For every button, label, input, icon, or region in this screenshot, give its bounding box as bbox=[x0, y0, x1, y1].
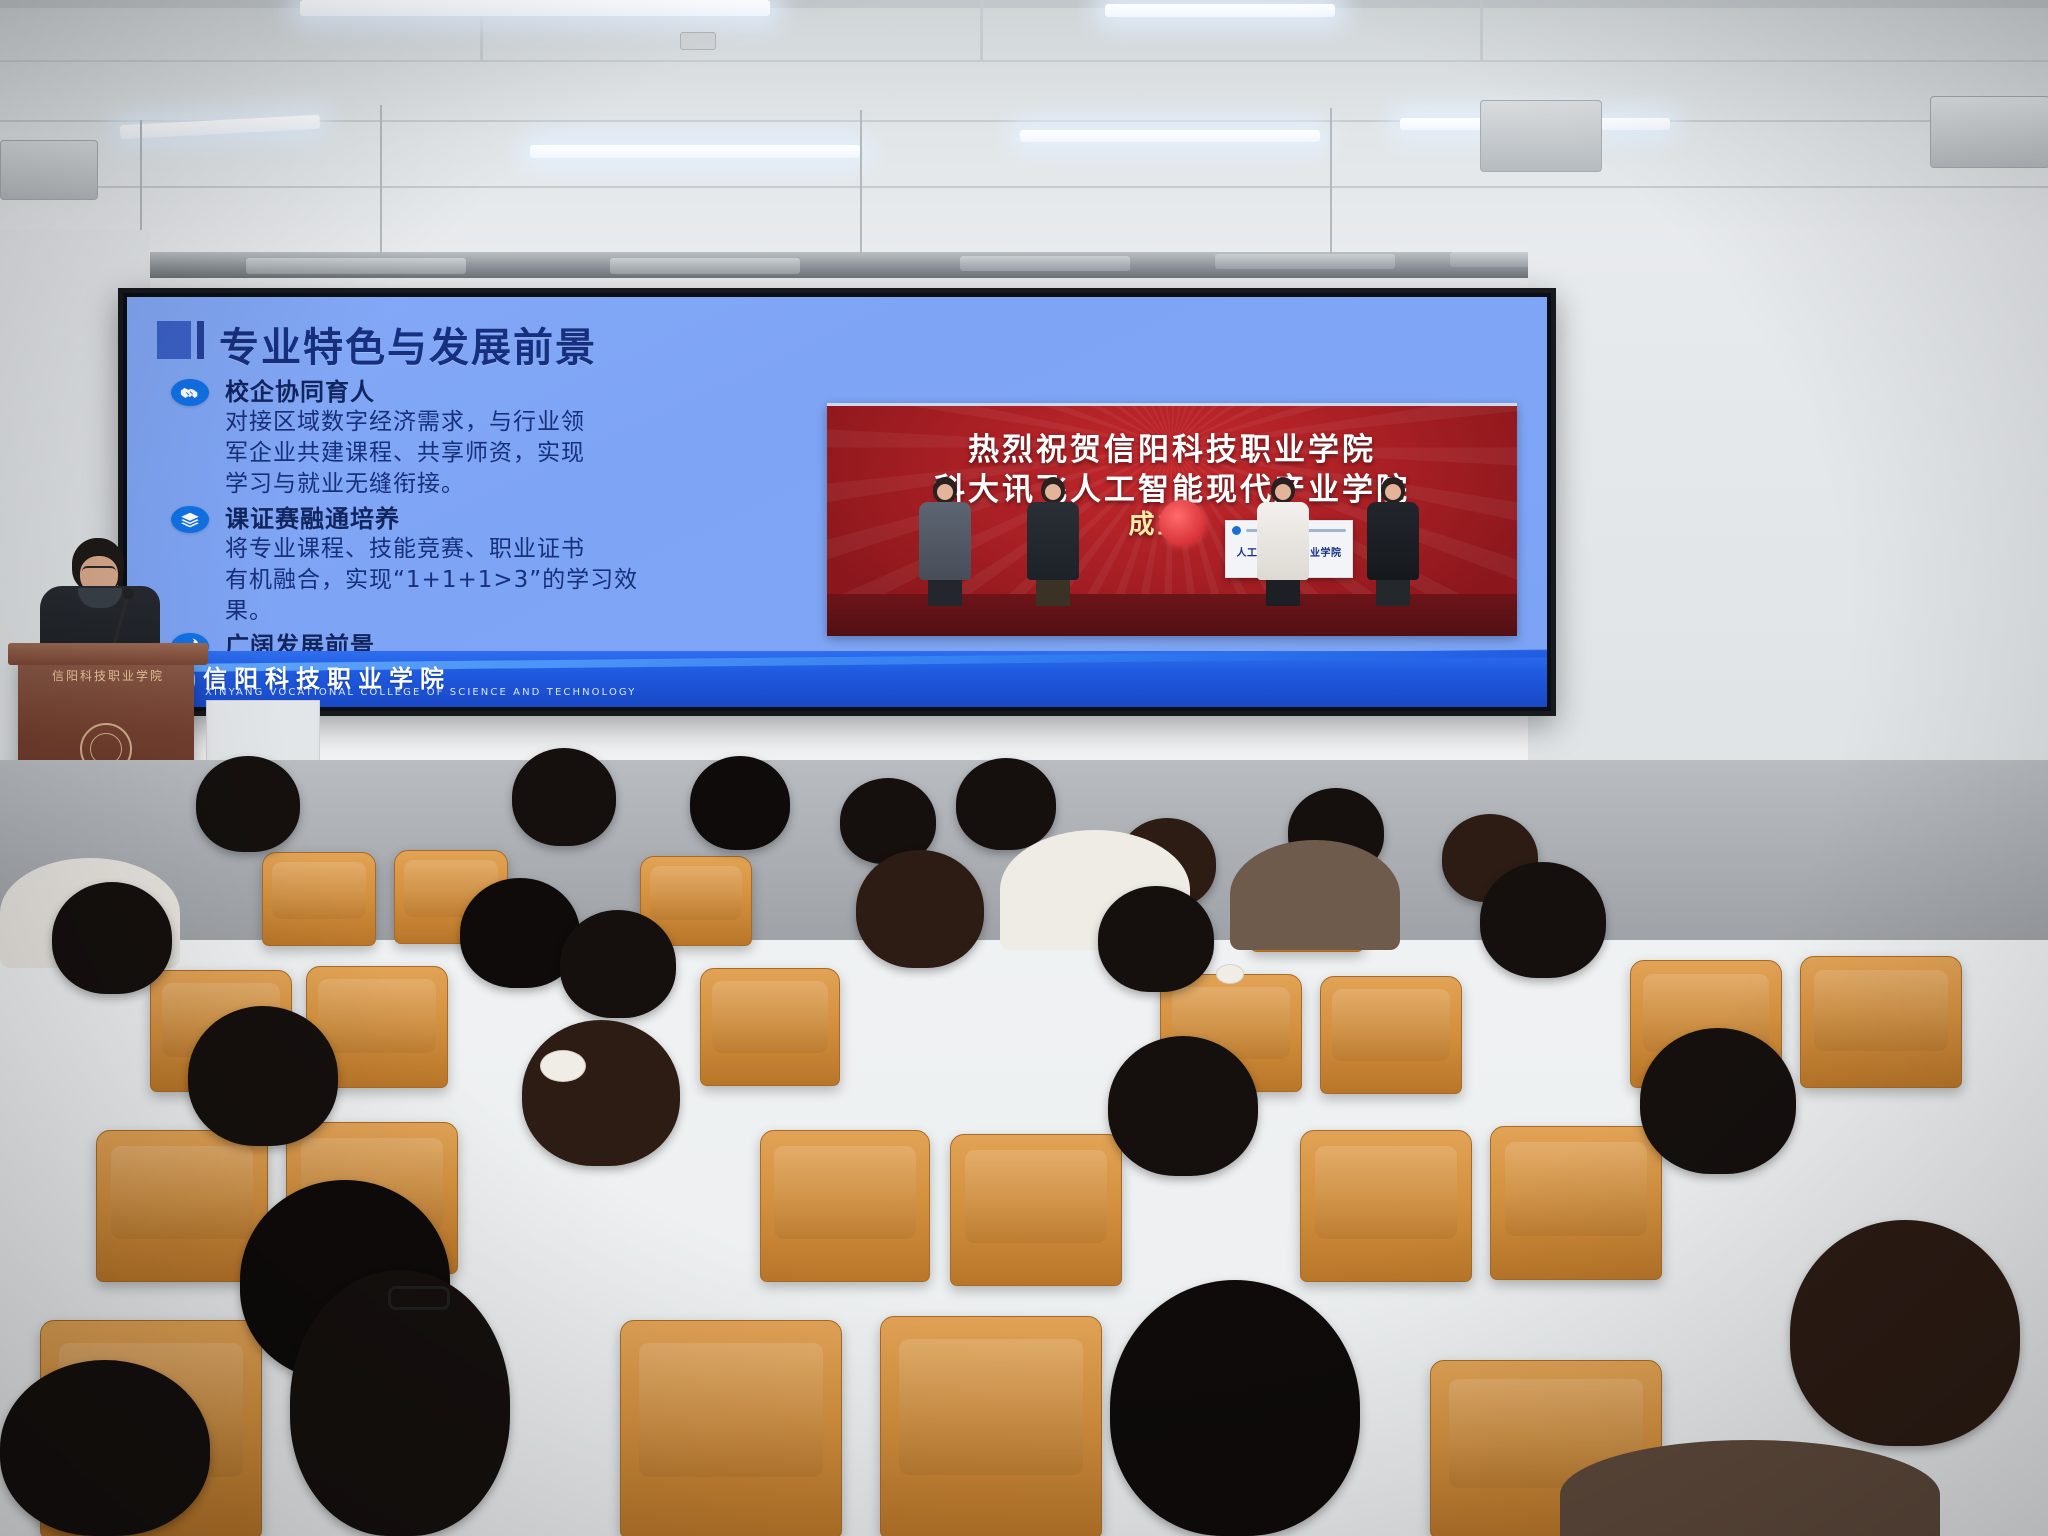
bullet-line: 对接区域数字经济需求，与行业领 bbox=[225, 407, 807, 438]
audience-head bbox=[0, 1360, 210, 1536]
podium-top bbox=[8, 643, 208, 665]
wall-control-panel bbox=[206, 700, 320, 766]
hanging-wire bbox=[1330, 108, 1332, 254]
plaque-logo-dot bbox=[1232, 526, 1241, 535]
audience-head bbox=[1098, 886, 1214, 992]
ceremony-person bbox=[1367, 477, 1419, 606]
hair-clip bbox=[1216, 964, 1244, 984]
ceremony-person bbox=[1257, 477, 1309, 606]
chair bbox=[950, 1134, 1122, 1286]
ceiling-lamp bbox=[1105, 4, 1335, 17]
speaker-glasses bbox=[82, 566, 116, 577]
chair bbox=[880, 1316, 1102, 1536]
chair bbox=[1300, 1130, 1472, 1282]
ceiling-lamp bbox=[1020, 130, 1320, 142]
ceremony-photo: 热烈祝贺信阳科技职业学院 科大讯飞人工智能现代产业学院 成立！ bbox=[827, 403, 1517, 636]
audience-head bbox=[512, 748, 616, 846]
track-light-bar bbox=[960, 256, 1130, 271]
bullet-line: 有机融合，实现“1+1+1>3”的学习效 bbox=[225, 565, 807, 596]
plaque-logo-line bbox=[1306, 529, 1347, 532]
audience-head bbox=[188, 1006, 338, 1146]
title-accent-square bbox=[157, 321, 191, 359]
ceremony-person bbox=[919, 477, 971, 606]
track-light-bar bbox=[246, 258, 466, 274]
audience-head bbox=[1790, 1220, 2020, 1446]
bullet-item-1: 校企协同育人 对接区域数字经济需求，与行业领 军企业共建课程、共享师资，实现 学… bbox=[167, 377, 807, 500]
track-light-bar bbox=[610, 258, 800, 274]
audience-shoulders bbox=[1230, 840, 1400, 950]
ceremony-person bbox=[1027, 477, 1079, 606]
audience-head bbox=[1110, 1280, 1360, 1536]
air-conditioner-vent bbox=[0, 140, 98, 200]
banner-line-1: 热烈祝贺信阳科技职业学院 bbox=[827, 424, 1517, 469]
audience-head bbox=[856, 850, 984, 968]
presentation-slide: 专业特色与发展前景 校企协同育人 对接区域数字经济需求，与行业领 军企业共建课程… bbox=[127, 297, 1547, 707]
footer-college-en: XINYANG VOCATIONAL COLLEGE OF SCIENCE AN… bbox=[205, 687, 637, 698]
audience-head bbox=[1480, 862, 1606, 978]
ceiling-lamp bbox=[300, 0, 770, 16]
hair-clip bbox=[540, 1050, 586, 1082]
slide-title: 专业特色与发展前景 bbox=[219, 315, 597, 373]
handshake-icon bbox=[171, 379, 209, 406]
audience-head bbox=[1108, 1036, 1258, 1176]
chair bbox=[620, 1320, 842, 1536]
bullet-line: 果。 bbox=[225, 596, 807, 627]
audience-head bbox=[560, 910, 676, 1018]
wall-speaker bbox=[680, 32, 716, 50]
audience-head bbox=[690, 756, 790, 850]
projector-screen: 专业特色与发展前景 校企协同育人 对接区域数字经济需求，与行业领 军企业共建课程… bbox=[118, 288, 1556, 716]
audience-head bbox=[52, 882, 172, 994]
bullet-heading: 校企协同育人 bbox=[225, 377, 807, 407]
track-light-bar bbox=[1215, 254, 1395, 269]
chair bbox=[1320, 976, 1462, 1094]
audience-seating bbox=[0, 800, 2048, 1536]
audience-head bbox=[522, 1020, 680, 1166]
audience-head bbox=[196, 756, 300, 852]
projector bbox=[1930, 96, 2048, 168]
layers-icon bbox=[171, 506, 209, 533]
chair bbox=[700, 968, 840, 1086]
bullet-heading: 课证赛融通培养 bbox=[225, 504, 807, 534]
red-ribbon-flower bbox=[1159, 500, 1205, 546]
bullet-item-2: 课证赛融通培养 将专业课程、技能竞赛、职业证书 有机融合，实现“1+1+1>3”… bbox=[167, 504, 807, 627]
audience-head bbox=[1640, 1028, 1796, 1174]
audience-head bbox=[956, 758, 1056, 850]
photo-scene: 专业特色与发展前景 校企协同育人 对接区域数字经济需求，与行业领 军企业共建课程… bbox=[0, 0, 2048, 1536]
slide-footer: 信阳科技职业学院 XINYANG VOCATIONAL COLLEGE OF S… bbox=[127, 651, 1547, 707]
ceiling-lamp bbox=[530, 145, 860, 158]
bullet-line: 军企业共建课程、共享师资，实现 bbox=[225, 438, 807, 469]
bullet-line: 将专业课程、技能竞赛、职业证书 bbox=[225, 534, 807, 565]
chair bbox=[1490, 1126, 1662, 1280]
chair bbox=[1800, 956, 1962, 1088]
title-accent-bar bbox=[197, 321, 204, 359]
podium-nameplate: 信阳科技职业学院 bbox=[46, 667, 170, 685]
eyeglasses-icon bbox=[388, 1286, 450, 1310]
right-wall bbox=[1528, 230, 2048, 790]
air-conditioner-vent bbox=[1480, 100, 1602, 172]
chair bbox=[262, 852, 376, 946]
chair bbox=[760, 1130, 930, 1282]
hanging-wire bbox=[860, 110, 862, 255]
hanging-wire bbox=[380, 105, 382, 255]
bullet-line: 学习与就业无缝衔接。 bbox=[225, 469, 807, 500]
